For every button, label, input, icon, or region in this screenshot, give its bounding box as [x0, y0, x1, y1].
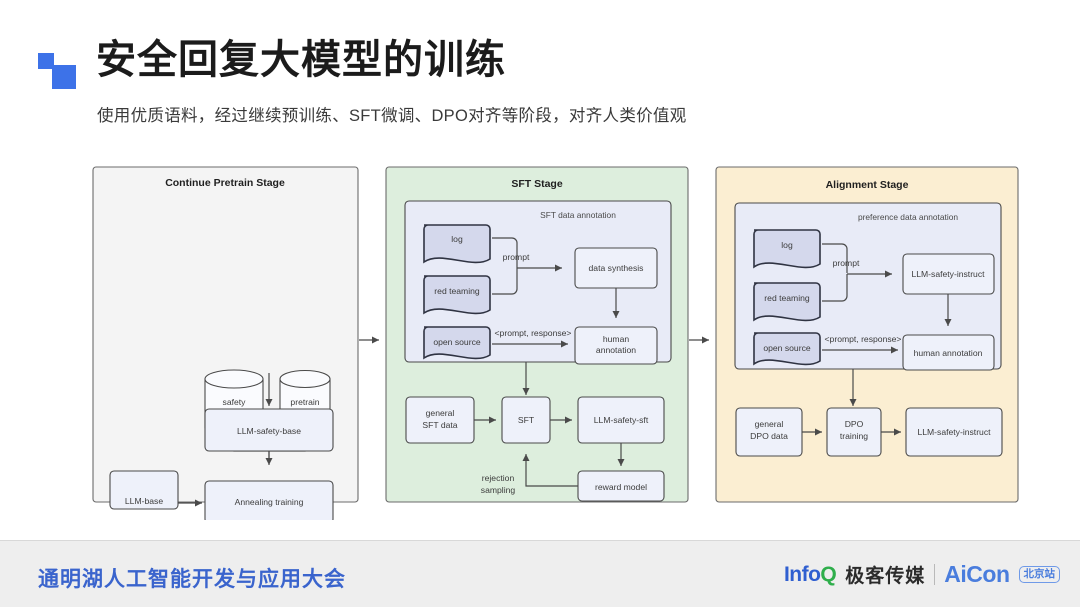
- dpo-line1: DPO: [845, 419, 864, 429]
- node-llm-safety-base-group: LLM-safety-base: [205, 373, 333, 451]
- llm-safety-instruct-top-label: LLM-safety-instruct: [911, 269, 985, 279]
- sft-prompt-label: prompt: [503, 252, 530, 262]
- infoq-logo: InfoQ: [784, 563, 836, 587]
- stage2-title: SFT Stage: [511, 178, 563, 190]
- llm-safety-instruct-label: LLM-safety-instruct: [917, 427, 991, 437]
- node-dpo-training: DPO training: [827, 408, 881, 456]
- align-red-teaming-label: red teaming: [764, 293, 810, 303]
- footer-logos: InfoQ 极客传媒 AiCon 北京站: [784, 561, 1060, 588]
- sft-human-line2: annotation: [596, 345, 636, 355]
- stage3-title: Alignment Stage: [826, 179, 909, 191]
- node-align-human-annotation: human annotation: [903, 335, 994, 370]
- data-synthesis-label: data synthesis: [589, 263, 644, 273]
- general-sft-line1: general: [426, 408, 455, 418]
- general-sft-line2: SFT data: [422, 420, 457, 430]
- sft-log-label: log: [451, 234, 463, 244]
- infoq-info-text: Info: [784, 563, 820, 586]
- jike-media-logo: 极客传媒: [845, 561, 925, 588]
- dpo-line2: training: [840, 431, 868, 441]
- node-align-red-teaming: red teaming: [754, 283, 820, 320]
- footer-bar: 通明湖人工智能开发与应用大会 InfoQ 极客传媒 AiCon 北京站: [0, 540, 1080, 607]
- sft-annotation-title: SFT data annotation: [540, 210, 616, 220]
- node-general-sft-data: general SFT data: [406, 397, 474, 443]
- align-log-label: log: [781, 240, 793, 250]
- node-align-open-source: open source: [754, 333, 820, 364]
- two-squares-icon: [38, 53, 82, 89]
- node-sft: SFT: [502, 397, 550, 443]
- node-llm-safety-instruct-bottom: LLM-safety-instruct: [906, 408, 1002, 456]
- reward-model-label: reward model: [595, 482, 647, 492]
- rejection-line2: sampling: [481, 485, 516, 495]
- sft-human-line1: human: [603, 334, 629, 344]
- general-dpo-line2: DPO data: [750, 431, 788, 441]
- page-subtitle: 使用优质语料，经过继续预训练、SFT微调、DPO对齐等阶段，对齐人类价值观: [97, 102, 687, 126]
- node-llm-safety-sft: LLM-safety-sft: [578, 397, 664, 443]
- node-align-log: log: [754, 230, 820, 267]
- aicon-logo: AiCon: [944, 561, 1009, 588]
- pref-annotation-title: preference data annotation: [858, 212, 958, 222]
- sft-prompt-response-label: <prompt, response>: [495, 328, 572, 338]
- node-llm-safety-instruct-top: LLM-safety-instruct: [903, 254, 994, 294]
- sft-node-label: SFT: [518, 415, 535, 425]
- llm-safety-base-label: LLM-safety-base: [237, 426, 301, 436]
- logo-divider: [934, 564, 935, 585]
- node-sft-human-annotation: human annotation: [575, 327, 657, 364]
- align-human-annotation-label: human annotation: [914, 348, 983, 358]
- node-sft-red-teaming: red teaming: [424, 276, 490, 313]
- page-title: 安全回复大模型的训练: [96, 36, 506, 84]
- align-prompt-label: prompt: [833, 258, 860, 268]
- node-sft-open-source: open source: [424, 327, 490, 358]
- llm-safety-sft-label: LLM-safety-sft: [594, 415, 649, 425]
- align-open-source-label: open source: [763, 343, 811, 353]
- node-sft-log: log: [424, 225, 490, 262]
- pipeline-diagram: .bx { fill:#eef1fa; stroke:#4a4a4a; stro…: [0, 150, 1080, 520]
- node-general-dpo-data: general DPO data: [736, 408, 802, 456]
- footer-conference-title: 通明湖人工智能开发与应用大会: [38, 563, 346, 593]
- infoq-q-text: Q: [820, 563, 836, 586]
- aicon-city-badge: 北京站: [1019, 566, 1061, 583]
- sft-open-source-label: open source: [433, 337, 481, 347]
- sft-red-teaming-label: red teaming: [434, 286, 480, 296]
- node-data-synthesis: data synthesis: [575, 248, 657, 288]
- slide-root: 安全回复大模型的训练 使用优质语料，经过继续预训练、SFT微调、DPO对齐等阶段…: [0, 0, 1080, 607]
- rejection-line1: rejection: [482, 473, 515, 483]
- align-prompt-response-label: <prompt, response>: [825, 334, 902, 344]
- node-reward-model: reward model: [578, 471, 664, 501]
- square-large: [52, 65, 76, 89]
- general-dpo-line1: general: [755, 419, 784, 429]
